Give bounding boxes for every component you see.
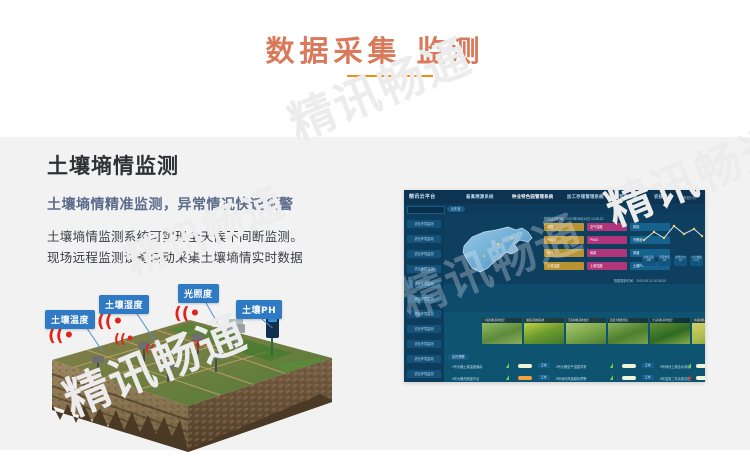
dashboard-stat-card-label: 雨量 bbox=[587, 249, 627, 257]
dashboard-sidebar-label: 农业环境监测 bbox=[407, 295, 441, 303]
dashboard-sidebar-item[interactable]: 农业环境监测 bbox=[407, 325, 441, 333]
dashboard-sidebar-label: 农业环境监测 bbox=[407, 220, 441, 228]
dashboard-list-row[interactable]: 3号地块土壤含水量低 bbox=[660, 364, 690, 369]
sensor-tag-soil-ph[interactable]: 土壤PH bbox=[236, 300, 282, 319]
sensor-tag-illuminance[interactable]: 光照度 bbox=[178, 284, 219, 303]
dashboard-stat-card-label: 氧气 bbox=[544, 249, 584, 257]
dashboard-nav-item-4[interactable]: 农技推广 bbox=[654, 194, 672, 200]
section-body-line-1: 土壤墒情监测系统可实现全天候不间断监测。 bbox=[47, 227, 392, 248]
dashboard-photo-caption: 油菜花种植基地 bbox=[524, 318, 564, 323]
dashboard-photo-caption: 小麦种植基地监控 bbox=[482, 318, 522, 323]
dashboard-nav-item-0[interactable]: 畜禽溯源系统 bbox=[466, 194, 494, 200]
dashboard-photo-caption: 玉米种植基地监控 bbox=[566, 318, 606, 323]
dashboard-stat-card-label: 土壤温度 bbox=[544, 262, 584, 270]
dashboard-stat-card[interactable]: 氧气 bbox=[544, 249, 584, 257]
dashboard-list-row[interactable]: 2号大棚空气湿度异常 bbox=[556, 364, 586, 369]
dashboard-stat-card[interactable]: PM10 bbox=[587, 236, 627, 244]
dashboard-stat-header: 数据监测时间：2019年09月12日 10:35:20 bbox=[544, 216, 603, 221]
dashboard-photo-tile[interactable]: 玉米种植基地监控 bbox=[566, 318, 606, 344]
dashboard-list-row[interactable]: 5号地块风速超标预警 bbox=[556, 376, 586, 381]
page-root: 数据采集 监测 精讯畅通 精讯畅通 精讯畅通 精讯畅通 土壤墒情监测 土壤墒情精… bbox=[0, 0, 750, 463]
dashboard-stat-card-label: PM2.5 bbox=[544, 236, 584, 244]
dashboard-chart-footer: 数据更新时间：2019-09-12 10:35:20 bbox=[614, 278, 666, 283]
dashboard-logo: 精讯云平台 bbox=[409, 193, 436, 200]
dashboard-sidebar-label: 农业环境监测 bbox=[407, 340, 441, 348]
trend-up-icon bbox=[688, 363, 691, 368]
trend-up-icon bbox=[506, 375, 509, 380]
dashboard-screenshot[interactable]: 精讯云平台 畜禽溯源系统 种业特色园管理系统 加工存储管理系统 专家系统 农技推… bbox=[404, 190, 705, 382]
dashboard-list-bar bbox=[518, 376, 532, 380]
dashboard-photo-band bbox=[444, 284, 705, 312]
dashboard-stat-card-label: 土壤湿度 bbox=[587, 262, 627, 270]
dashboard-kpi-value: 06 bbox=[658, 259, 671, 262]
dashboard-kpi-value: 42 bbox=[674, 259, 687, 262]
dashboard-photo-caption: 水稻种植基地监控 bbox=[692, 318, 705, 323]
dashboard-list-status[interactable]: 正常 bbox=[642, 375, 654, 380]
dashboard-list-bar bbox=[622, 364, 636, 368]
dashboard-kpi-value: 128 bbox=[642, 259, 655, 262]
dashboard-sidebar-item[interactable]: 农业环境监测 bbox=[407, 280, 441, 288]
dashboard-kpi[interactable]: 监测点位42 bbox=[674, 256, 687, 266]
trend-chart-graphic bbox=[642, 218, 704, 252]
dashboard-sidebar-label: 农业环境监测 bbox=[407, 355, 441, 363]
dashboard-sidebar-label: 农业环境监测 bbox=[407, 250, 441, 258]
sensor-tag-soil-humidity[interactable]: 土壤湿度 bbox=[99, 295, 149, 314]
signal-icon: ((• bbox=[145, 342, 162, 355]
dashboard-photo-caption: 蔬菜大棚监测点 bbox=[608, 318, 648, 323]
dashboard-list-row[interactable]: 4号大棚光照度不足 bbox=[452, 376, 479, 381]
dashboard-photo-tile[interactable]: 小麦种植基地监控 bbox=[482, 318, 522, 344]
dashboard-kpi-value: 1.2万 bbox=[690, 259, 703, 262]
dashboard-kpi[interactable]: 在线设备128 bbox=[642, 256, 655, 266]
dashboard-nav-extra-0[interactable]: 大数据分析 bbox=[680, 195, 696, 200]
section-heading: 土壤墒情监测 bbox=[47, 150, 392, 180]
dashboard-list-bar bbox=[518, 364, 532, 368]
dashboard-photo-tile[interactable]: 油菜花种植基地 bbox=[524, 318, 564, 344]
trend-up-icon bbox=[610, 363, 613, 368]
signal-icon: ((• bbox=[48, 326, 74, 346]
dashboard-stat-card[interactable]: PM2.5 bbox=[544, 236, 584, 244]
section-body: 土壤墒情监测系统可实现全天候不间断监测。 现场远程监测设备自动采集土壤墒情实时数… bbox=[47, 227, 392, 268]
dashboard-list-bar bbox=[696, 376, 705, 380]
trend-up-icon bbox=[506, 363, 509, 368]
dashboard-sidebar-item[interactable]: 农业环境监测 bbox=[407, 295, 441, 303]
dashboard-sidebar-item[interactable]: 农业环境监测 bbox=[407, 355, 441, 363]
dashboard-stat-card[interactable]: 温度 bbox=[544, 223, 584, 231]
dashboard-kpi[interactable]: 今日数据1.2万 bbox=[690, 256, 703, 266]
signal-icon: ((• bbox=[97, 312, 123, 332]
signal-icon: ((• bbox=[114, 332, 134, 347]
dashboard-photo-tile[interactable]: 蔬菜大棚监测点 bbox=[608, 318, 648, 344]
dashboard-sidebar-label: 农业环境监测 bbox=[407, 370, 441, 378]
section-body-line-2: 现场远程监测设备自动采集土壤墒情实时数据 bbox=[47, 248, 392, 269]
dashboard-stat-card[interactable]: 土壤温度 bbox=[544, 262, 584, 270]
dashboard-stat-card-label: 温度 bbox=[544, 223, 584, 231]
section-copy: 土壤墒情监测 土壤墒情精准监测，异常情况快速预警 土壤墒情监测系统可实现全天候不… bbox=[47, 150, 392, 268]
signal-icon: ((• bbox=[174, 304, 200, 324]
page-title: 数据采集 监测 bbox=[0, 28, 750, 70]
sensor-tag-soil-temperature[interactable]: 土壤温度 bbox=[45, 310, 95, 329]
dashboard-kpi[interactable]: 预警数量06 bbox=[658, 256, 671, 266]
dashboard-sidebar-item[interactable]: 农业环境监测 bbox=[407, 220, 441, 228]
dashboard-photo-tile[interactable]: 水稻种植基地监控 bbox=[692, 318, 705, 344]
dashboard-list-bar bbox=[622, 376, 636, 380]
dashboard-stat-card[interactable]: 雨量 bbox=[587, 249, 627, 257]
dashboard-sidebar: 农业环境监测 农业环境监测 农业环境监测 农业环境监测 农业环境监测 农业环境监… bbox=[404, 214, 444, 382]
soil-monitoring-illustration: ((• ((• ((• ((• ((• ((• 土壤温度 土壤湿度 光照度 土壤… bbox=[40, 282, 340, 462]
title-underline bbox=[347, 75, 433, 77]
dashboard-sidebar-item[interactable]: 农业环境监测 bbox=[407, 235, 441, 243]
dashboard-photo-caption: 大豆种植基地监控 bbox=[650, 318, 690, 323]
dashboard-list-pill[interactable]: 实时预警 bbox=[448, 354, 469, 360]
dashboard-list-status[interactable]: 正常 bbox=[538, 375, 550, 380]
dashboard-search-input[interactable] bbox=[407, 206, 445, 214]
dashboard-trend-chart[interactable]: 在线设备128 预警数量06 监测点位42 今日数据1.2万 bbox=[642, 218, 704, 280]
dashboard-stat-card[interactable]: 土壤湿度 bbox=[587, 262, 627, 270]
province-map-graphic[interactable] bbox=[458, 220, 538, 282]
section-subheading: 土壤墒情精准监测，异常情况快速预警 bbox=[47, 194, 392, 214]
dashboard-sidebar-label: 农业环境监测 bbox=[407, 310, 441, 318]
dashboard-sidebar-label: 农业环境监测 bbox=[407, 325, 441, 333]
dashboard-sidebar-label: 农业环境监测 bbox=[407, 235, 441, 243]
dashboard-list-status[interactable]: 正常 bbox=[642, 363, 654, 368]
dashboard-sidebar-item[interactable]: 农业环境监测 bbox=[407, 250, 441, 258]
signal-icon: ((• bbox=[190, 338, 207, 351]
page-header: 数据采集 监测 bbox=[0, 0, 750, 137]
dashboard-stat-card-label: 空气湿度 bbox=[587, 223, 627, 231]
dashboard-stat-card-label: PM10 bbox=[587, 236, 627, 244]
dashboard-list-row[interactable]: 6号温室二氧化碳浓度 bbox=[660, 376, 690, 381]
dashboard-sidebar-label: 农业环境监测 bbox=[407, 280, 441, 288]
trend-down-icon bbox=[688, 375, 691, 380]
dashboard-nav-item-3[interactable]: 专家系统 bbox=[619, 194, 637, 200]
dashboard-nav-item-2[interactable]: 加工存储管理系统 bbox=[567, 194, 604, 200]
dashboard-sidebar-item[interactable]: 农业环境监测 bbox=[407, 370, 441, 378]
dashboard-list-row[interactable]: 1号大棚土壤温度偏高 bbox=[452, 364, 482, 369]
dashboard-nav-item-1[interactable]: 种业特色园管理系统 bbox=[512, 194, 553, 200]
dashboard-sidebar-label: 农业环境监测 bbox=[407, 265, 441, 273]
dashboard-stat-card[interactable]: 空气湿度 bbox=[587, 223, 627, 231]
trend-up-icon bbox=[610, 375, 613, 380]
dashboard-main: 数据监测时间：2019年09月12日 10:35:20 温度 空气湿度 风向 P… bbox=[444, 214, 705, 382]
dashboard-photo-tile[interactable]: 大豆种植基地监控 bbox=[650, 318, 690, 344]
dashboard-sidebar-item[interactable]: 农业环境监测 bbox=[407, 340, 441, 348]
dashboard-list-bar bbox=[696, 364, 705, 368]
dashboard-sidebar-item[interactable]: 农业环境监测 bbox=[407, 310, 441, 318]
dashboard-sidebar-item[interactable]: 农业环境监测 bbox=[407, 265, 441, 273]
dashboard-location-pill[interactable]: 山东省 bbox=[447, 206, 465, 212]
dashboard-list-status[interactable]: 正常 bbox=[538, 363, 550, 368]
